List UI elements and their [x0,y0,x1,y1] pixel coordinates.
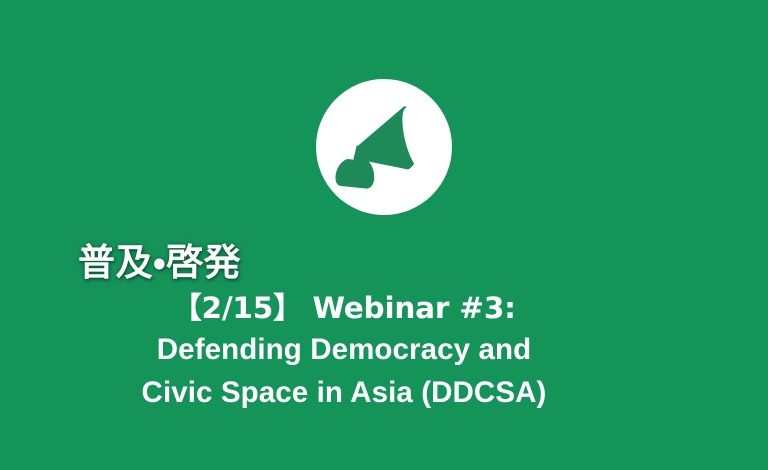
headline-line-1: 【2/15】 Webinar #3: [0,287,688,329]
webinar-banner: 普及・啓発 【2/15】 Webinar #3: Defending Democ… [0,0,768,470]
category-kicker: 普及・啓発 [78,243,241,283]
headline-line-3: Civic Space in Asia (DDCSA) [0,372,688,414]
megaphone-icon [316,79,452,215]
headline-line-2: Defending Democracy and [0,329,688,371]
kicker-row: 普及・啓発 [0,243,688,283]
banner-text-block: 普及・啓発 【2/15】 Webinar #3: Defending Democ… [0,243,688,414]
megaphone-badge [316,79,452,215]
